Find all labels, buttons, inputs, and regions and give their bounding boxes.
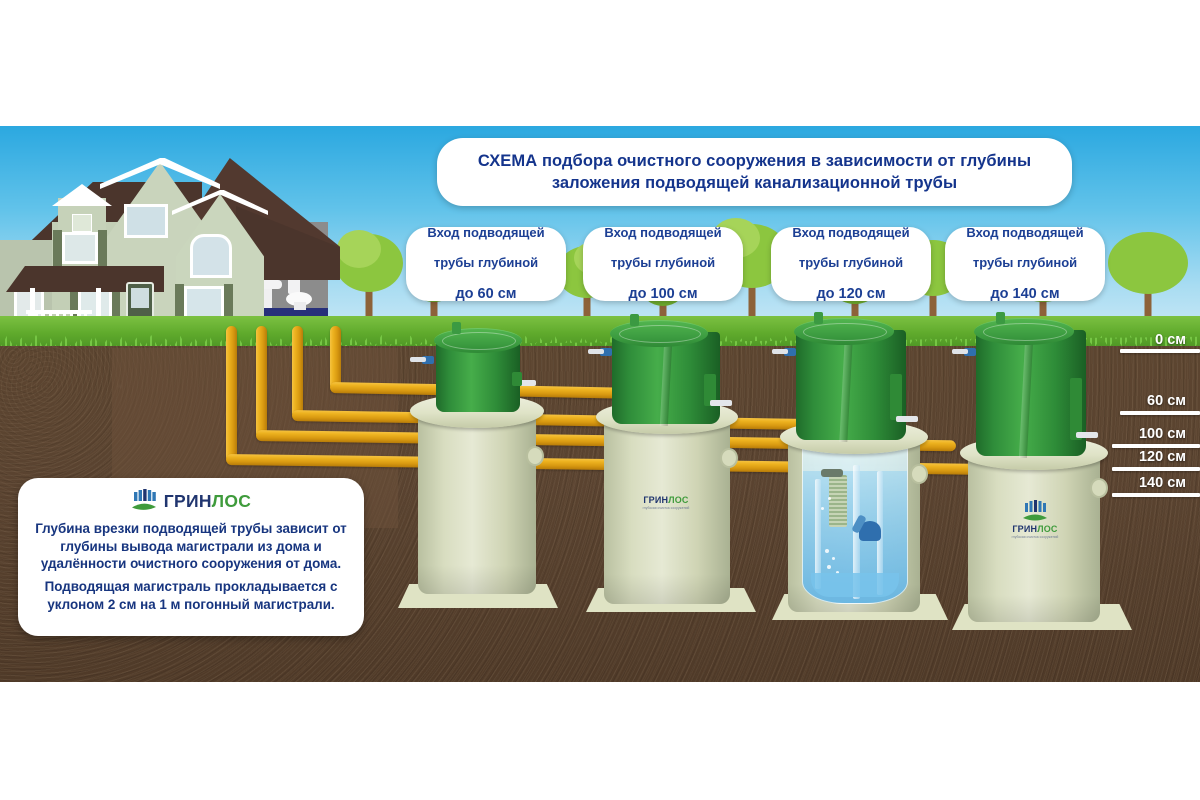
callout-120-line3: до 120 см bbox=[784, 286, 917, 303]
unit-4-brand-tagline: глубокая очистка сооружений bbox=[992, 535, 1078, 539]
unit-1-inlet-pipe bbox=[410, 357, 426, 362]
depth-line-0 bbox=[1120, 349, 1200, 353]
callout-140-line1: Вход подводящей bbox=[958, 225, 1091, 240]
unit-1-body bbox=[418, 410, 536, 594]
logo-text-second: ЛОС bbox=[212, 491, 251, 511]
unit-3-inlet-pipe bbox=[772, 349, 788, 354]
main-title-line2: заложения подводящей канализационной тру… bbox=[478, 172, 1031, 194]
pipe-vertical-4 bbox=[226, 326, 237, 462]
unit-3-bubble bbox=[827, 565, 831, 569]
unit-4-brand-second: ЛОС bbox=[1037, 524, 1057, 534]
pipe-vertical-1 bbox=[330, 326, 341, 390]
unit-4-brand-logo: ГРИНЛОС глубокая очистка сооружений bbox=[992, 500, 1078, 539]
callout-100-line3: до 100 см bbox=[596, 286, 729, 303]
main-title-line1: СХЕМА подбора очистного сооружения в зав… bbox=[478, 150, 1031, 172]
unit-4-logo-icon bbox=[1022, 500, 1048, 524]
unit-2-body bbox=[604, 416, 730, 604]
toilet-base bbox=[294, 302, 306, 310]
callout-depth-120: Вход подводящей трубы глубиной до 120 см bbox=[771, 227, 931, 301]
unit-2-brand-logo: ГРИНЛОС глубокая очистка сооружений bbox=[616, 496, 716, 510]
unit-3-bubble bbox=[828, 497, 831, 500]
callout-depth-100: Вход подводящей трубы глубиной до 100 см bbox=[583, 227, 743, 301]
window-upper-right bbox=[190, 234, 232, 278]
window-left-shuttered bbox=[62, 232, 98, 264]
porch-rail-top bbox=[26, 310, 92, 314]
unit-4-inlet-pipe bbox=[952, 349, 968, 354]
info-box: ГРИНЛОС Глубина врезки подводящей трубы … bbox=[18, 478, 364, 636]
callout-120-line2: трубы глубиной bbox=[784, 255, 917, 270]
unit-2-brand-tagline: глубокая очистка сооружений bbox=[616, 506, 716, 510]
unit-3-bubble bbox=[832, 557, 835, 560]
infographic-root: 0 см 60 см 100 см 120 см 140 см bbox=[0, 0, 1200, 800]
unit-3-outlet-pipe bbox=[896, 416, 918, 422]
unit-4-lifting-ear bbox=[1090, 478, 1108, 498]
pipe-vertical-2 bbox=[292, 326, 303, 418]
unit-4-brand-text: ГРИНЛОС bbox=[992, 525, 1078, 534]
unit-3-filter-media bbox=[829, 475, 847, 527]
callout-140-line3: до 140 см bbox=[958, 286, 1091, 303]
callout-depth-60: Вход подводящей трубы глубиной до 60 см bbox=[406, 227, 566, 301]
greenlos-logo-text: ГРИНЛОС bbox=[164, 491, 251, 512]
shutter-left-b bbox=[98, 230, 107, 266]
unit-3-lower-water bbox=[811, 573, 899, 597]
callout-100-line2: трубы глубиной bbox=[596, 255, 729, 270]
unit-3-side-vent bbox=[890, 374, 902, 420]
unit-1-lid-ring bbox=[442, 332, 516, 350]
callout-depth-140: Вход подводящей трубы глубиной до 140 см bbox=[945, 227, 1105, 301]
unit-4-outlet-pipe bbox=[1076, 432, 1098, 438]
callout-60-line2: трубы глубиной bbox=[419, 255, 552, 270]
unit-3-lifting-ear bbox=[910, 464, 928, 484]
unit-3-cutaway-window bbox=[802, 444, 908, 604]
logo-text-first: ГРИН bbox=[164, 491, 212, 511]
unit-1-vent bbox=[452, 322, 461, 334]
unit-3-vent bbox=[814, 312, 823, 324]
callout-100-line1: Вход подводящей bbox=[596, 225, 729, 240]
window-upper-center bbox=[124, 204, 168, 238]
treatment-unit-4[interactable]: ГРИНЛОС глубокая очистка сооружений bbox=[952, 312, 1132, 628]
unit-4-brand-first: ГРИН bbox=[1012, 524, 1037, 534]
unit-2-outlet-pipe bbox=[710, 400, 732, 406]
door-window bbox=[131, 288, 149, 308]
greenlos-logo-icon bbox=[131, 489, 157, 513]
depth-line-60 bbox=[1120, 411, 1200, 415]
unit-2-brand-first: ГРИН bbox=[643, 495, 668, 505]
unit-4-side-vent bbox=[1070, 378, 1082, 440]
main-title: СХЕМА подбора очистного сооружения в зав… bbox=[437, 138, 1072, 206]
unit-3-bubble bbox=[825, 549, 829, 553]
unit-2-lifting-ear bbox=[720, 448, 738, 468]
callout-60-line3: до 60 см bbox=[419, 286, 552, 303]
shutter-left-a bbox=[53, 230, 62, 266]
unit-2-lid-ring bbox=[619, 325, 701, 343]
unit-3-lid-ring bbox=[803, 323, 887, 341]
treatment-unit-2[interactable]: ГРИНЛОС глубокая очистка сооружений bbox=[586, 316, 756, 608]
info-box-logo: ГРИНЛОС bbox=[30, 486, 352, 516]
unit-2-vent bbox=[630, 314, 639, 326]
unit-2-brand-text: ГРИНЛОС bbox=[616, 496, 716, 505]
unit-2-brand-second: ЛОС bbox=[668, 495, 688, 505]
unit-4-lid-ring bbox=[983, 323, 1067, 341]
callout-140-line2: трубы глубиной bbox=[958, 255, 1091, 270]
unit-3-bubble bbox=[821, 507, 824, 510]
pipe-vertical-3 bbox=[256, 326, 267, 438]
treatment-unit-1[interactable] bbox=[398, 322, 558, 602]
callout-60-line1: Вход подводящей bbox=[419, 225, 552, 240]
callout-120-line1: Вход подводящей bbox=[784, 225, 917, 240]
unit-4-vent bbox=[996, 312, 1005, 324]
dormer-window bbox=[72, 214, 92, 232]
unit-1-lifting-ear bbox=[526, 446, 544, 466]
info-box-paragraph-2: Подводящая магистраль прокладывается с у… bbox=[30, 578, 352, 613]
unit-3-airlift-box bbox=[821, 469, 843, 477]
treatment-unit-3-cutaway[interactable] bbox=[772, 312, 948, 616]
info-box-paragraph-1: Глубина врезки подводящей трубы зависит … bbox=[30, 520, 352, 573]
unit-2-inlet-pipe bbox=[588, 349, 604, 354]
unit-1-side-vent bbox=[512, 372, 522, 386]
scene: 0 см 60 см 100 см 120 см 140 см bbox=[0, 126, 1200, 682]
